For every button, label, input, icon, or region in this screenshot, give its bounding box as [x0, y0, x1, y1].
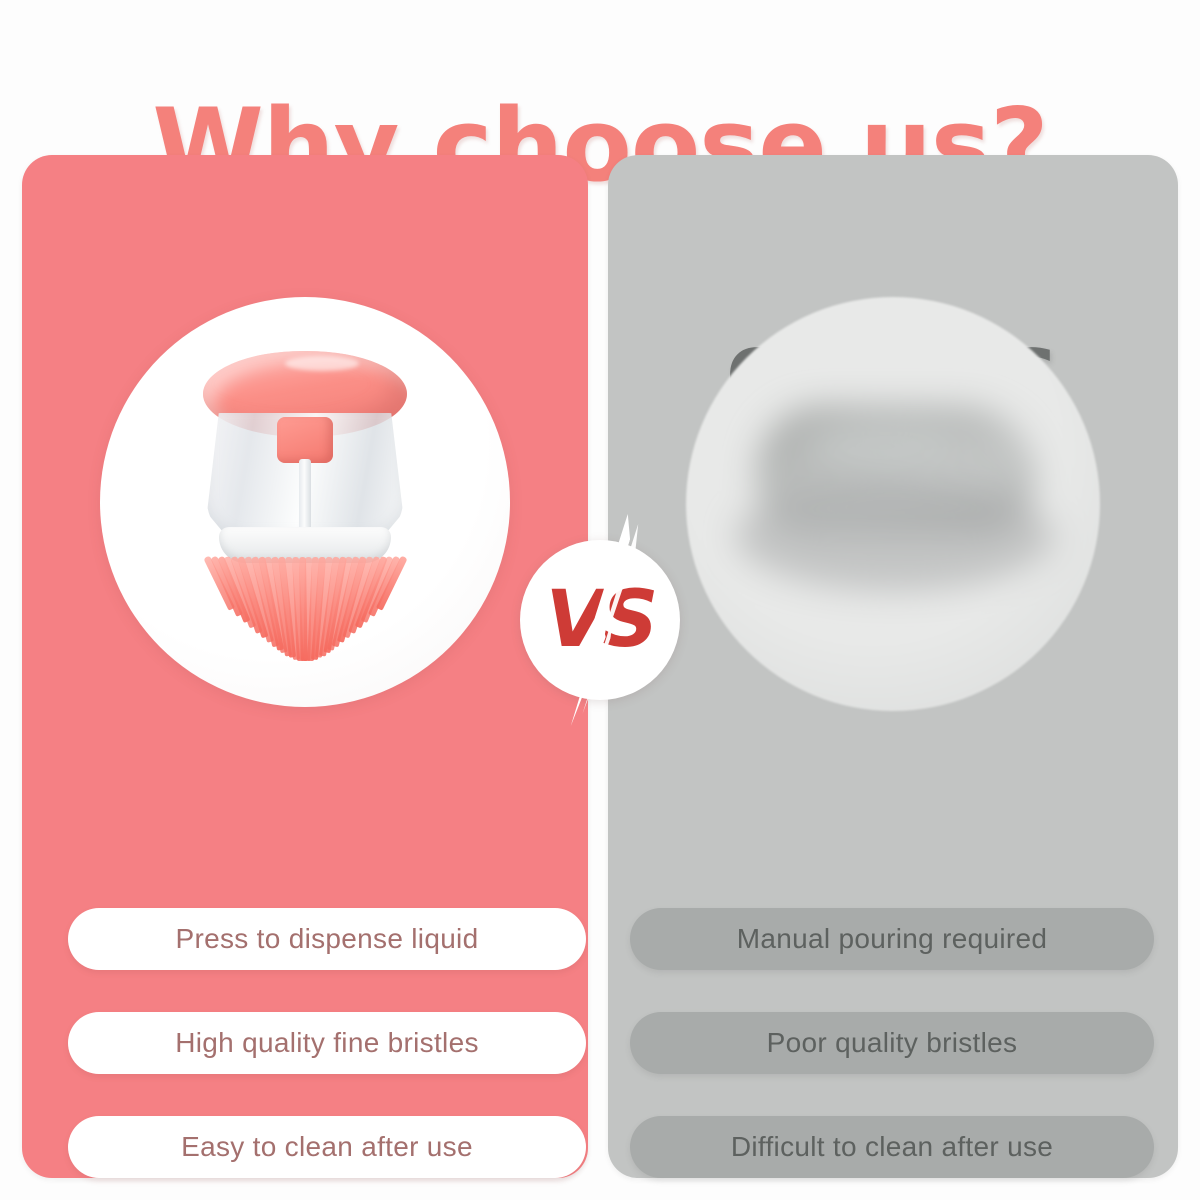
others-feature-pill-3: Difficult to clean after use: [630, 1116, 1154, 1178]
others-feature-pill-2: Poor quality bristles: [630, 1012, 1154, 1074]
ours-feature-label-3: Easy to clean after use: [181, 1131, 473, 1163]
blur-shape-shadow: [736, 481, 1054, 591]
ours-product-image: [100, 297, 510, 707]
ours-feature-pill-1: Press to dispense liquid: [68, 908, 586, 970]
brush-stem: [299, 459, 311, 531]
comparison-infographic: Why choose us? OURS Press to dispense li…: [0, 0, 1200, 1200]
others-product-image: [686, 297, 1100, 711]
brush-plunger: [277, 417, 333, 463]
others-feature-label-1: Manual pouring required: [737, 923, 1047, 955]
ours-feature-label-2: High quality fine bristles: [175, 1027, 479, 1059]
ours-feature-label-1: Press to dispense liquid: [176, 923, 479, 955]
brush-cap-highlight: [285, 356, 359, 371]
ours-panel: OURS Press to dispense liquid High quali…: [22, 155, 588, 1178]
others-feature-pill-1: Manual pouring required: [630, 908, 1154, 970]
brush-bristles: [197, 557, 413, 667]
vs-badge: VS: [520, 540, 680, 700]
blur-shape-highlight: [806, 423, 956, 467]
others-feature-label-2: Poor quality bristles: [767, 1027, 1018, 1059]
blurred-brush-illustration: [686, 297, 1100, 711]
others-panel: OTHERS Manual pouring required Poor qual…: [608, 155, 1178, 1178]
ours-feature-pill-3: Easy to clean after use: [68, 1116, 586, 1178]
ours-feature-pill-2: High quality fine bristles: [68, 1012, 586, 1074]
dish-brush-illustration: [175, 351, 435, 651]
others-feature-label-3: Difficult to clean after use: [731, 1131, 1053, 1163]
